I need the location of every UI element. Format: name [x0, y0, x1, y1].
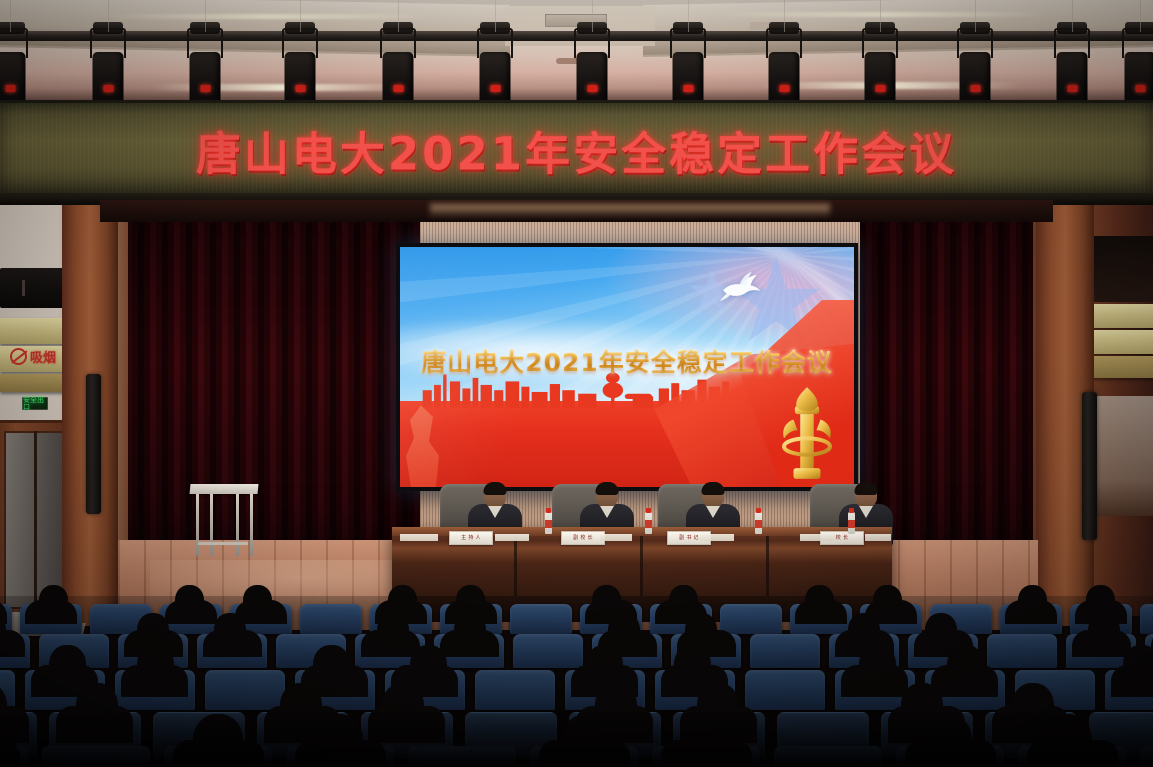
audience-member-shoulders — [1111, 665, 1153, 697]
no-smoking-icon — [10, 348, 27, 365]
audience-member-shoulders — [361, 630, 420, 657]
audience-seat — [750, 634, 820, 668]
bottle-label — [755, 520, 762, 528]
head-table-seam-1 — [514, 536, 517, 602]
side-table-top — [189, 484, 258, 494]
light-led-indicator — [683, 85, 693, 92]
door-seam — [34, 431, 37, 609]
audience-member-shoulders — [931, 665, 998, 697]
side-table-leg-3 — [236, 494, 239, 556]
audience-member-shoulders — [440, 630, 499, 657]
light-led-indicator — [103, 85, 113, 92]
table-document — [400, 534, 438, 541]
bottle-cap — [756, 508, 761, 513]
audience-member-shoulders — [795, 600, 847, 624]
speaker-port-icon — [22, 280, 25, 296]
audience-seat — [720, 604, 782, 634]
no-smoking-label: 吸烟 — [30, 347, 56, 366]
golden-emblem-icon — [780, 384, 834, 482]
side-table-leg-4 — [250, 494, 253, 556]
person-hair — [702, 482, 725, 495]
audience-seat — [987, 634, 1057, 668]
light-suspension-wire — [398, 0, 399, 32]
table-document — [600, 534, 632, 541]
speaker-column-right — [1082, 392, 1097, 540]
gold-panel-right-2 — [1085, 330, 1153, 354]
audience-seat — [300, 604, 362, 634]
emergency-exit-sign: 安全出口 — [22, 397, 48, 410]
light-led-indicator — [1135, 85, 1145, 92]
conference-hall-photo: 唐山电大2021年安全稳定工作会议 吸烟 安全出口 — [0, 0, 1153, 767]
led-banner: 唐山电大2021年安全稳定工作会议 — [0, 100, 1153, 196]
screen-content: 唐山电大2021年安全稳定工作会议 — [400, 247, 854, 487]
audience-seat — [745, 670, 825, 710]
audience-member-shoulders — [25, 600, 77, 624]
water-bottle — [755, 512, 762, 534]
exit-sign-label: 安全出口 — [23, 397, 47, 411]
bottle-cap — [849, 508, 854, 513]
table-document — [700, 534, 734, 541]
light-led-indicator — [5, 85, 15, 92]
table-document — [865, 534, 891, 541]
table-name-card: 主 持 人 — [449, 531, 493, 545]
audience-seat — [510, 604, 572, 634]
light-led-indicator — [779, 85, 789, 92]
light-suspension-wire — [205, 0, 206, 32]
bottle-label — [848, 520, 855, 528]
table-name-card: 副 校 长 — [561, 531, 605, 545]
gold-panel-right-1 — [1085, 304, 1153, 328]
light-led-indicator — [970, 85, 980, 92]
table-document — [495, 534, 529, 541]
wall-right-lit-surface — [1091, 396, 1153, 516]
ceiling-slab-left — [0, 0, 510, 57]
light-suspension-wire — [10, 0, 11, 32]
audience-seat — [1140, 604, 1153, 634]
no-smoking-sign: 吸烟 — [10, 345, 66, 367]
light-suspension-wire — [784, 0, 785, 32]
light-suspension-wire — [1140, 0, 1141, 32]
light-led-indicator — [200, 85, 210, 92]
audience-member-shoulders — [841, 665, 908, 697]
gold-panel-right-3 — [1085, 356, 1153, 378]
audience-member-shoulders — [1005, 600, 1057, 624]
light-suspension-wire — [495, 0, 496, 32]
side-table-leg-1 — [196, 494, 199, 556]
light-led-indicator — [1067, 85, 1077, 92]
light-suspension-wire — [1072, 0, 1073, 32]
head-table-seam-2 — [640, 536, 643, 602]
led-display-screen: 唐山电大2021年安全稳定工作会议 — [396, 243, 858, 491]
audience-seat — [205, 670, 285, 710]
audience-member-shoulders — [1072, 630, 1131, 657]
audience-seat — [513, 634, 583, 668]
stage-curtain-left — [120, 205, 420, 595]
wall-right-dark-recess — [1089, 236, 1153, 302]
audience-seat — [475, 670, 555, 710]
light-suspension-wire — [300, 0, 301, 32]
ceiling-light-strip-left — [100, 14, 430, 19]
banner-title-text: 唐山电大2021年安全稳定工作会议 — [0, 117, 1153, 182]
bottle-label — [645, 520, 652, 528]
foreground-shadow — [0, 713, 1153, 767]
person-hair — [596, 482, 619, 495]
table-document — [800, 534, 836, 541]
water-bottle — [545, 512, 552, 534]
screen-title-text: 唐山电大2021年安全稳定工作会议 — [400, 343, 854, 379]
dove-icon — [719, 269, 763, 303]
audience-member-shoulders — [165, 600, 217, 624]
water-bottle — [848, 512, 855, 534]
light-led-indicator — [587, 85, 597, 92]
audience-member-shoulders — [121, 665, 188, 697]
person-hair — [855, 482, 878, 495]
person-hair — [484, 482, 507, 495]
curtain-shadow-left — [120, 205, 420, 595]
stage-light-spill — [430, 204, 830, 218]
bottle-cap — [646, 508, 651, 513]
water-bottle — [645, 512, 652, 534]
bottle-cap — [546, 508, 551, 513]
light-suspension-wire — [688, 0, 689, 32]
speaker-column-left — [86, 374, 101, 514]
light-suspension-wire — [592, 0, 593, 32]
light-suspension-wire — [880, 0, 881, 32]
light-led-indicator — [875, 85, 885, 92]
side-table-rail — [198, 542, 248, 545]
light-suspension-wire — [108, 0, 109, 32]
light-suspension-wire — [975, 0, 976, 32]
audience-member-shoulders — [203, 630, 262, 657]
ceiling-light-strip-right — [720, 12, 1050, 17]
bottle-label — [545, 520, 552, 528]
head-table-seam-3 — [766, 536, 769, 602]
side-table-leg-2 — [210, 494, 213, 556]
light-led-indicator — [295, 85, 305, 92]
side-table — [190, 484, 258, 560]
light-led-indicator — [393, 85, 403, 92]
light-led-indicator — [490, 85, 500, 92]
